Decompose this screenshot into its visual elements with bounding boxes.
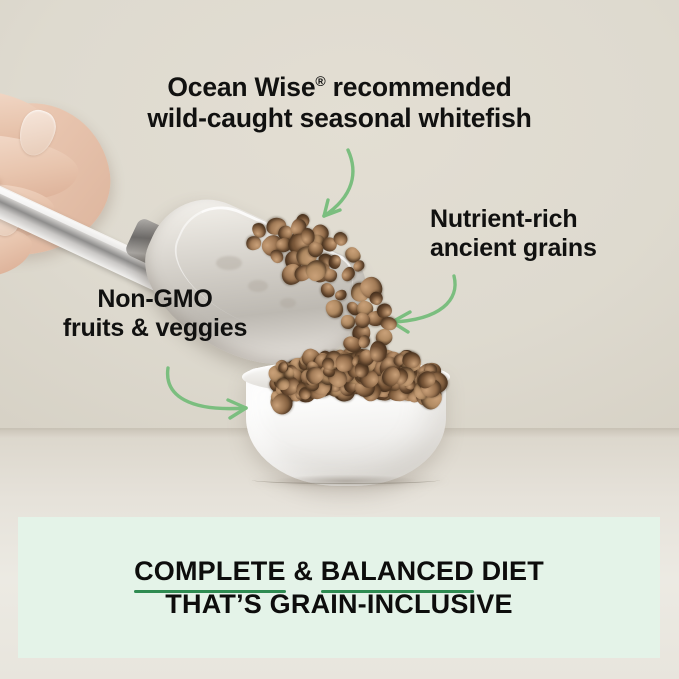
product-lifestyle-image: Ocean Wise® recommended wild-caught seas… bbox=[0, 0, 679, 679]
callout-non-gmo-line2: fruits & veggies bbox=[24, 314, 286, 343]
banner-line-1: COMPLETE & BALANCED DIET bbox=[134, 555, 544, 588]
banner-word-diet: DIET bbox=[474, 556, 544, 586]
callout-ocean-wise-line1-a: Ocean Wise bbox=[167, 72, 315, 102]
arrow-to-bowl-non-gmo bbox=[162, 358, 262, 424]
callout-ocean-wise: Ocean Wise® recommended wild-caught seas… bbox=[0, 72, 679, 134]
callout-ancient-grains: Nutrient-rich ancient grains bbox=[430, 205, 660, 264]
callout-non-gmo: Non-GMO fruits & veggies bbox=[24, 285, 286, 344]
bowl-base-line bbox=[252, 476, 440, 484]
callout-ancient-grains-line2: ancient grains bbox=[430, 234, 660, 263]
callout-non-gmo-line1: Non-GMO bbox=[24, 285, 286, 314]
banner-ampersand: & bbox=[286, 556, 321, 586]
banner-word-balanced: BALANCED bbox=[321, 555, 474, 588]
registered-trademark-icon: ® bbox=[315, 73, 325, 89]
callout-ocean-wise-line2: wild-caught seasonal whitefish bbox=[0, 103, 679, 134]
callout-ocean-wise-line1-b: recommended bbox=[326, 72, 512, 102]
callout-ocean-wise-line1: Ocean Wise® recommended bbox=[0, 72, 679, 103]
callout-ancient-grains-line1: Nutrient-rich bbox=[430, 205, 660, 234]
banner-word-complete: COMPLETE bbox=[134, 555, 286, 588]
scoop-speckle bbox=[216, 256, 242, 270]
complete-balanced-diet-banner: COMPLETE & BALANCED DIET THAT’S GRAIN-IN… bbox=[18, 517, 660, 658]
